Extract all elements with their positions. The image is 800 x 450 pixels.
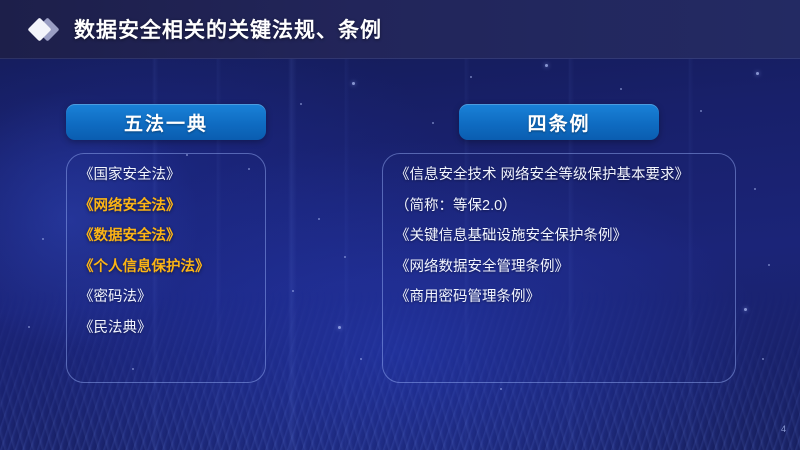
list-item: 《网络安全法》 — [79, 199, 253, 214]
column-five-laws-one-code: 五法一典 《国家安全法》 《网络安全法》 《数据安全法》 《个人信息保护法》 《… — [66, 104, 266, 383]
list-item: 《商用密码管理条例》 — [395, 290, 723, 305]
list-item: 《国家安全法》 — [79, 168, 253, 183]
page-title: 数据安全相关的关键法规、条例 — [74, 14, 382, 44]
column-heading-five-laws-one-code: 五法一典 — [66, 104, 266, 140]
column-heading-four-regulations: 四条例 — [459, 104, 659, 140]
diamond-icon — [28, 14, 58, 44]
list-item: 《信息安全技术 网络安全等级保护基本要求》 — [395, 168, 723, 183]
list-item: 《密码法》 — [79, 290, 253, 305]
list-item: （简称：等保2.0） — [395, 199, 723, 214]
list-item: 《民法典》 — [79, 321, 253, 336]
list-item: 《关键信息基础设施安全保护条例》 — [395, 229, 723, 244]
slide-canvas: 数据安全相关的关键法规、条例 五法一典 《国家安全法》 《网络安全法》 《数据安… — [0, 0, 800, 450]
slide-header-content: 数据安全相关的关键法规、条例 — [28, 0, 382, 58]
page-number: 4 — [781, 424, 786, 434]
column-four-regulations: 四条例 《信息安全技术 网络安全等级保护基本要求》 （简称：等保2.0） 《关键… — [382, 104, 736, 383]
list-item: 《个人信息保护法》 — [79, 260, 253, 275]
card-four-regulations: 《信息安全技术 网络安全等级保护基本要求》 （简称：等保2.0） 《关键信息基础… — [382, 153, 736, 383]
list-item: 《网络数据安全管理条例》 — [395, 260, 723, 275]
card-five-laws-one-code: 《国家安全法》 《网络安全法》 《数据安全法》 《个人信息保护法》 《密码法》 … — [66, 153, 266, 383]
slide-header-band: 数据安全相关的关键法规、条例 — [0, 0, 800, 59]
list-item: 《数据安全法》 — [79, 229, 253, 244]
